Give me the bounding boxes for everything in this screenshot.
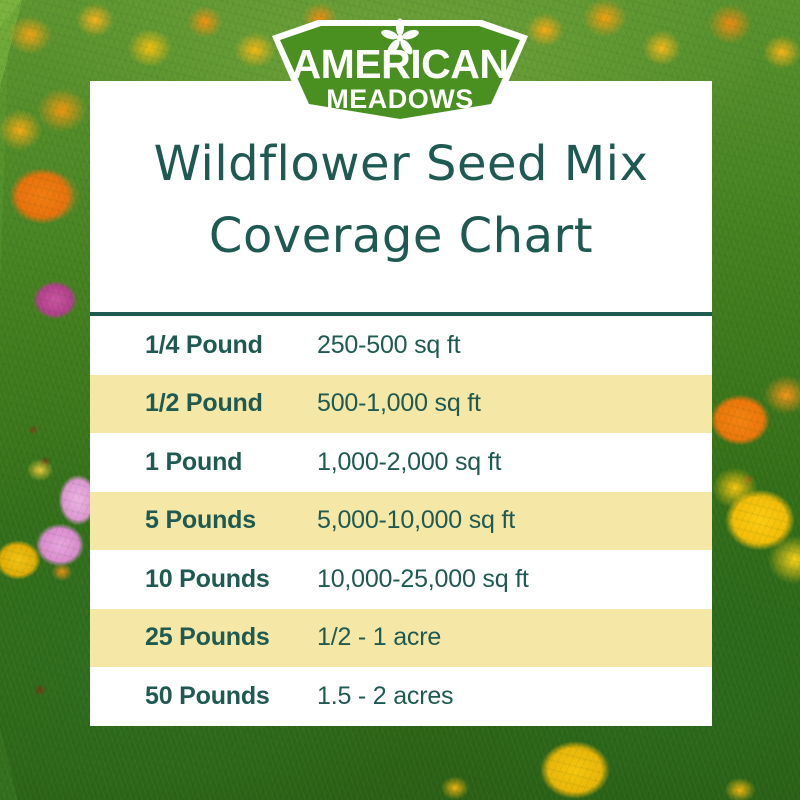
table-row: 5 Pounds5,000-10,000 sq ft — [90, 492, 712, 551]
american-meadows-logo[interactable]: AMERICAN MEADOWS — [258, 14, 542, 126]
cell-seed-amount: 25 Pounds — [90, 623, 317, 652]
poster-root: AMERICAN MEADOWS Wildflower Seed Mix Cov… — [0, 0, 800, 800]
coverage-table: 1/4 Pound250-500 sq ft1/2 Pound500-1,000… — [90, 316, 712, 726]
table-row: 1/4 Pound250-500 sq ft — [90, 316, 712, 375]
table-row: 10 Pounds10,000-25,000 sq ft — [90, 550, 712, 609]
cell-seed-amount: 10 Pounds — [90, 565, 317, 594]
cell-seed-amount: 1/4 Pound — [90, 331, 317, 360]
table-row: 1 Pound1,000-2,000 sq ft — [90, 433, 712, 492]
cell-seed-amount: 5 Pounds — [90, 506, 317, 535]
cell-coverage-area: 5,000-10,000 sq ft — [317, 506, 712, 535]
cell-coverage-area: 10,000-25,000 sq ft — [317, 565, 712, 594]
cell-coverage-area: 500-1,000 sq ft — [317, 389, 712, 418]
cell-coverage-area: 1,000-2,000 sq ft — [317, 448, 712, 477]
cell-seed-amount: 1/2 Pound — [90, 389, 317, 418]
cell-coverage-area: 250-500 sq ft — [317, 331, 712, 360]
table-row: 1/2 Pound500-1,000 sq ft — [90, 375, 712, 434]
logo-text-american: AMERICAN — [292, 41, 509, 87]
table-row: 50 Pounds1.5 - 2 acres — [90, 667, 712, 726]
cell-seed-amount: 50 Pounds — [90, 682, 317, 711]
page-title: Wildflower Seed Mix Coverage Chart — [90, 128, 712, 272]
table-row: 25 Pounds1/2 - 1 acre — [90, 609, 712, 668]
logo-text-meadows: MEADOWS — [326, 84, 474, 114]
page-title-line-1: Wildflower Seed Mix — [90, 128, 712, 200]
cell-coverage-area: 1.5 - 2 acres — [317, 682, 712, 711]
cell-seed-amount: 1 Pound — [90, 448, 317, 477]
page-title-line-2: Coverage Chart — [90, 200, 712, 272]
cell-coverage-area: 1/2 - 1 acre — [317, 623, 712, 652]
